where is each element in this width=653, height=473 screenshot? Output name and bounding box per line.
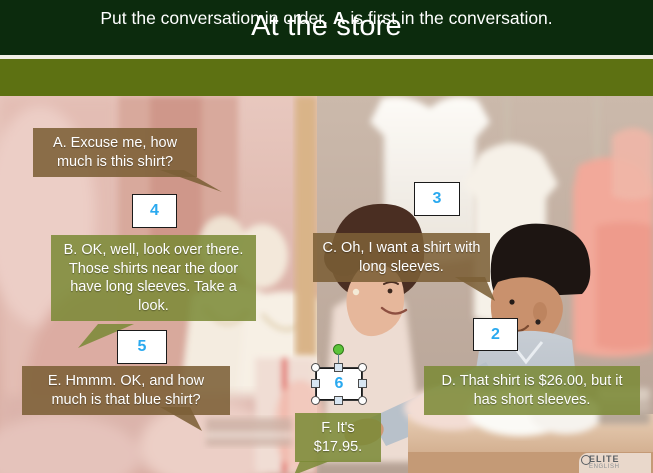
instruction-bar [0, 59, 653, 96]
watermark-text: ELITE [589, 454, 620, 464]
speech-bubble-b-text: B. OK, well, look over there. Those shir… [64, 242, 244, 314]
speech-bubble-a-tail [160, 170, 230, 196]
selected-shape-container[interactable]: 6 [308, 338, 370, 408]
order-box-4-value: 4 [150, 202, 159, 220]
order-box-3-value: 3 [433, 190, 442, 208]
instruction-prefix: Put the conversation in order. [100, 8, 333, 28]
resize-handle-bottom-center[interactable] [334, 396, 343, 405]
resize-handle-top-right[interactable] [358, 363, 367, 372]
resize-handle-middle-right[interactable] [358, 379, 367, 388]
instruction-text: Put the conversation in order. A is firs… [0, 0, 653, 37]
resize-handle-bottom-right[interactable] [358, 396, 367, 405]
resize-handle-top-center[interactable] [334, 363, 343, 372]
elite-watermark: ELITE ENGLISH [579, 453, 651, 473]
speech-bubble-c-text: C. Oh, I want a shirt with long sleeves. [323, 240, 481, 275]
order-box-2[interactable]: 2 [473, 318, 518, 351]
speech-bubble-f-tail [294, 461, 334, 473]
order-box-2-value: 2 [491, 326, 500, 344]
watermark-subtext: ENGLISH [589, 464, 620, 470]
speech-bubble-c[interactable]: C. Oh, I want a shirt with long sleeves. [313, 233, 490, 282]
speech-bubble-d[interactable]: D. That shirt is $26.00, but it has shor… [424, 366, 640, 415]
resize-handle-top-left[interactable] [311, 363, 320, 372]
resize-handle-middle-left[interactable] [311, 379, 320, 388]
order-box-5-value: 5 [138, 338, 147, 356]
order-box-3[interactable]: 3 [414, 182, 460, 216]
slide-canvas: At the store Put the conversation in ord… [0, 0, 653, 473]
speech-bubble-e-text: E. Hmmm. OK, and how much is that blue s… [48, 373, 204, 408]
order-box-5[interactable]: 5 [117, 330, 167, 364]
speech-bubble-d-text: D. That shirt is $26.00, but it has shor… [441, 373, 622, 408]
instruction-suffix: is first in the conversation. [345, 8, 552, 28]
instruction-bold-letter: A [333, 8, 346, 28]
order-box-4[interactable]: 4 [132, 194, 177, 228]
speech-bubble-c-tail [455, 277, 505, 303]
speech-bubble-b[interactable]: B. OK, well, look over there. Those shir… [51, 235, 256, 321]
speech-bubble-f[interactable]: F. It's $17.95. [295, 413, 381, 462]
speech-bubble-e-tail [160, 407, 210, 433]
speech-bubble-f-text: F. It's $17.95. [314, 420, 362, 455]
resize-handle-bottom-left[interactable] [311, 396, 320, 405]
speech-bubble-a-text: A. Excuse me, how much is this shirt? [53, 135, 177, 170]
